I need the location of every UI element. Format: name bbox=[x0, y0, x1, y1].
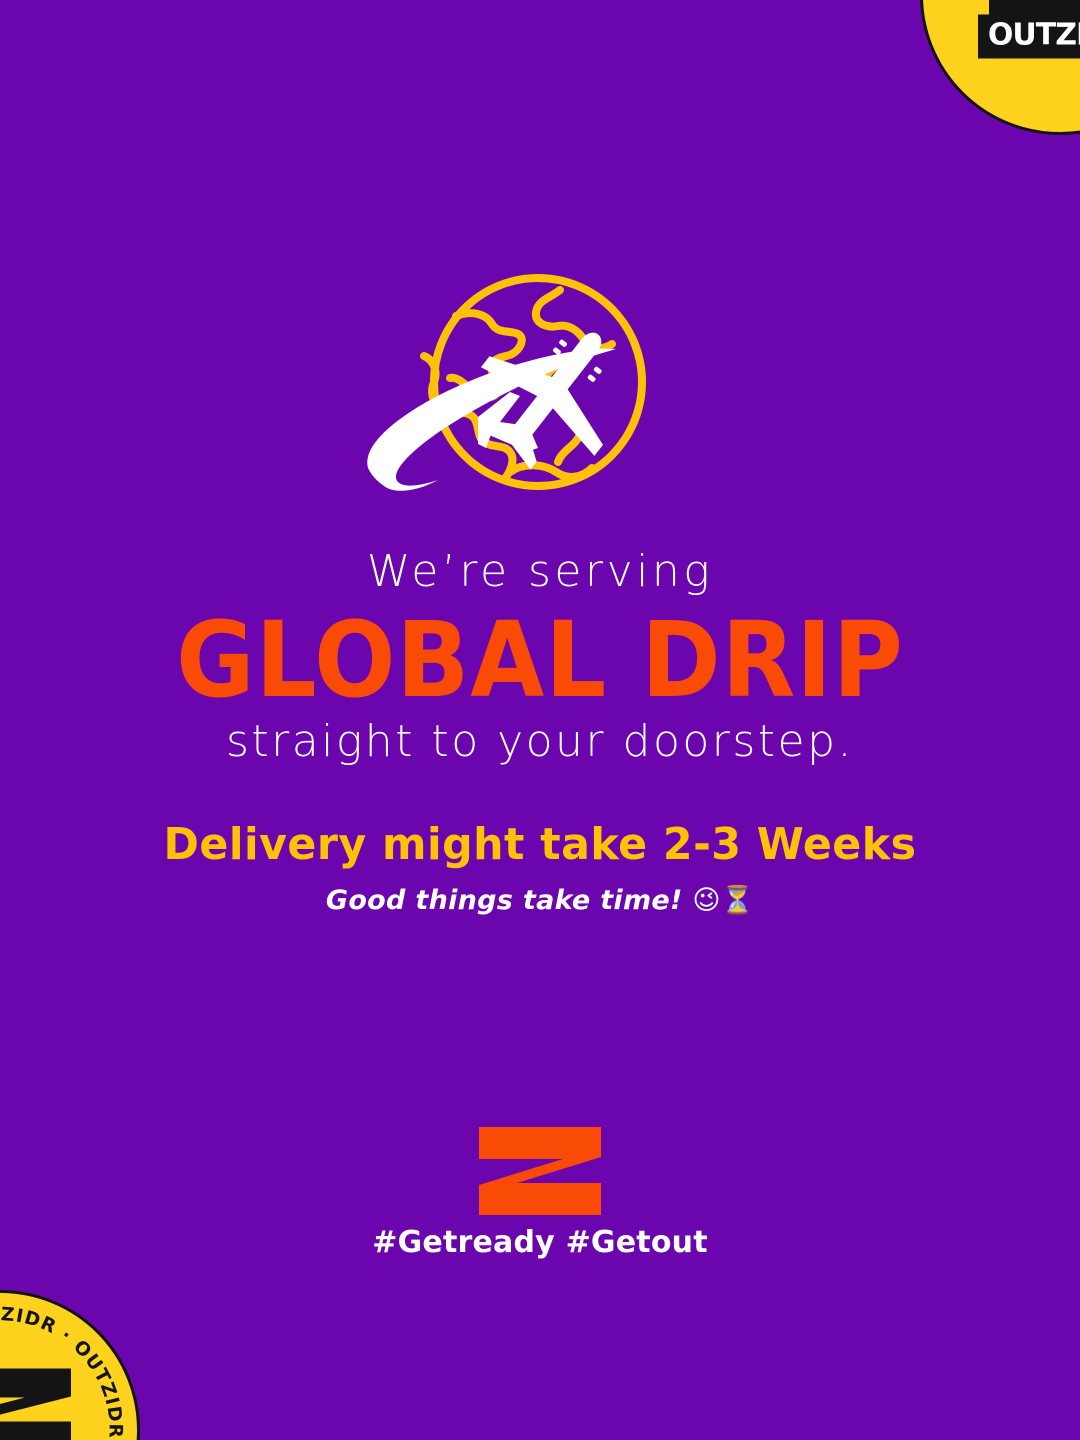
subline-text: straight to your doorstep. bbox=[0, 718, 1080, 766]
headline-block: We’re serving GLOBAL DRIP straight to yo… bbox=[0, 548, 1080, 767]
badge-core-bottom-left: OUTZIDR bbox=[0, 1367, 88, 1440]
badge-bottom-left: OUTZIDR · OUTZIDR · OUTZIDR · OUTZIDR · … bbox=[0, 1290, 140, 1440]
delivery-time-text: Delivery might take 2-3 Weeks bbox=[16, 820, 1064, 871]
hashtags-text: #Getready #Getout bbox=[0, 1225, 1080, 1260]
badge-core-top-right: OUTZIDR bbox=[972, 0, 1080, 59]
kicker-text: We’re serving bbox=[0, 548, 1080, 596]
hourglass-icon: ⏳ bbox=[720, 885, 754, 916]
reassurance-label: Good things take time! bbox=[326, 885, 683, 916]
delivery-reassurance-text: Good things take time! 😉⏳ bbox=[0, 885, 1080, 917]
promo-poster: OUTZIDR · OUTZIDR · OUTZIDR · OUTZIDR · … bbox=[0, 0, 1080, 1440]
outzidr-z-logo-icon bbox=[0, 1367, 75, 1440]
delivery-notice-block: Delivery might take 2-3 Weeks Good thing… bbox=[0, 820, 1080, 917]
badge-center-wordmark: OUTZIDR bbox=[978, 15, 1080, 59]
headline-text: GLOBAL DRIP bbox=[43, 608, 1037, 712]
globe-airplane-illustration bbox=[360, 272, 720, 507]
footer-brand-block: #Getready #Getout bbox=[0, 1127, 1080, 1260]
winking-face-icon: 😉 bbox=[692, 885, 720, 916]
outzidr-z-logo-icon bbox=[479, 1127, 601, 1215]
badge-top-right: OUTZIDR · OUTZIDR · OUTZIDR · OUTZIDR · … bbox=[920, 0, 1080, 135]
